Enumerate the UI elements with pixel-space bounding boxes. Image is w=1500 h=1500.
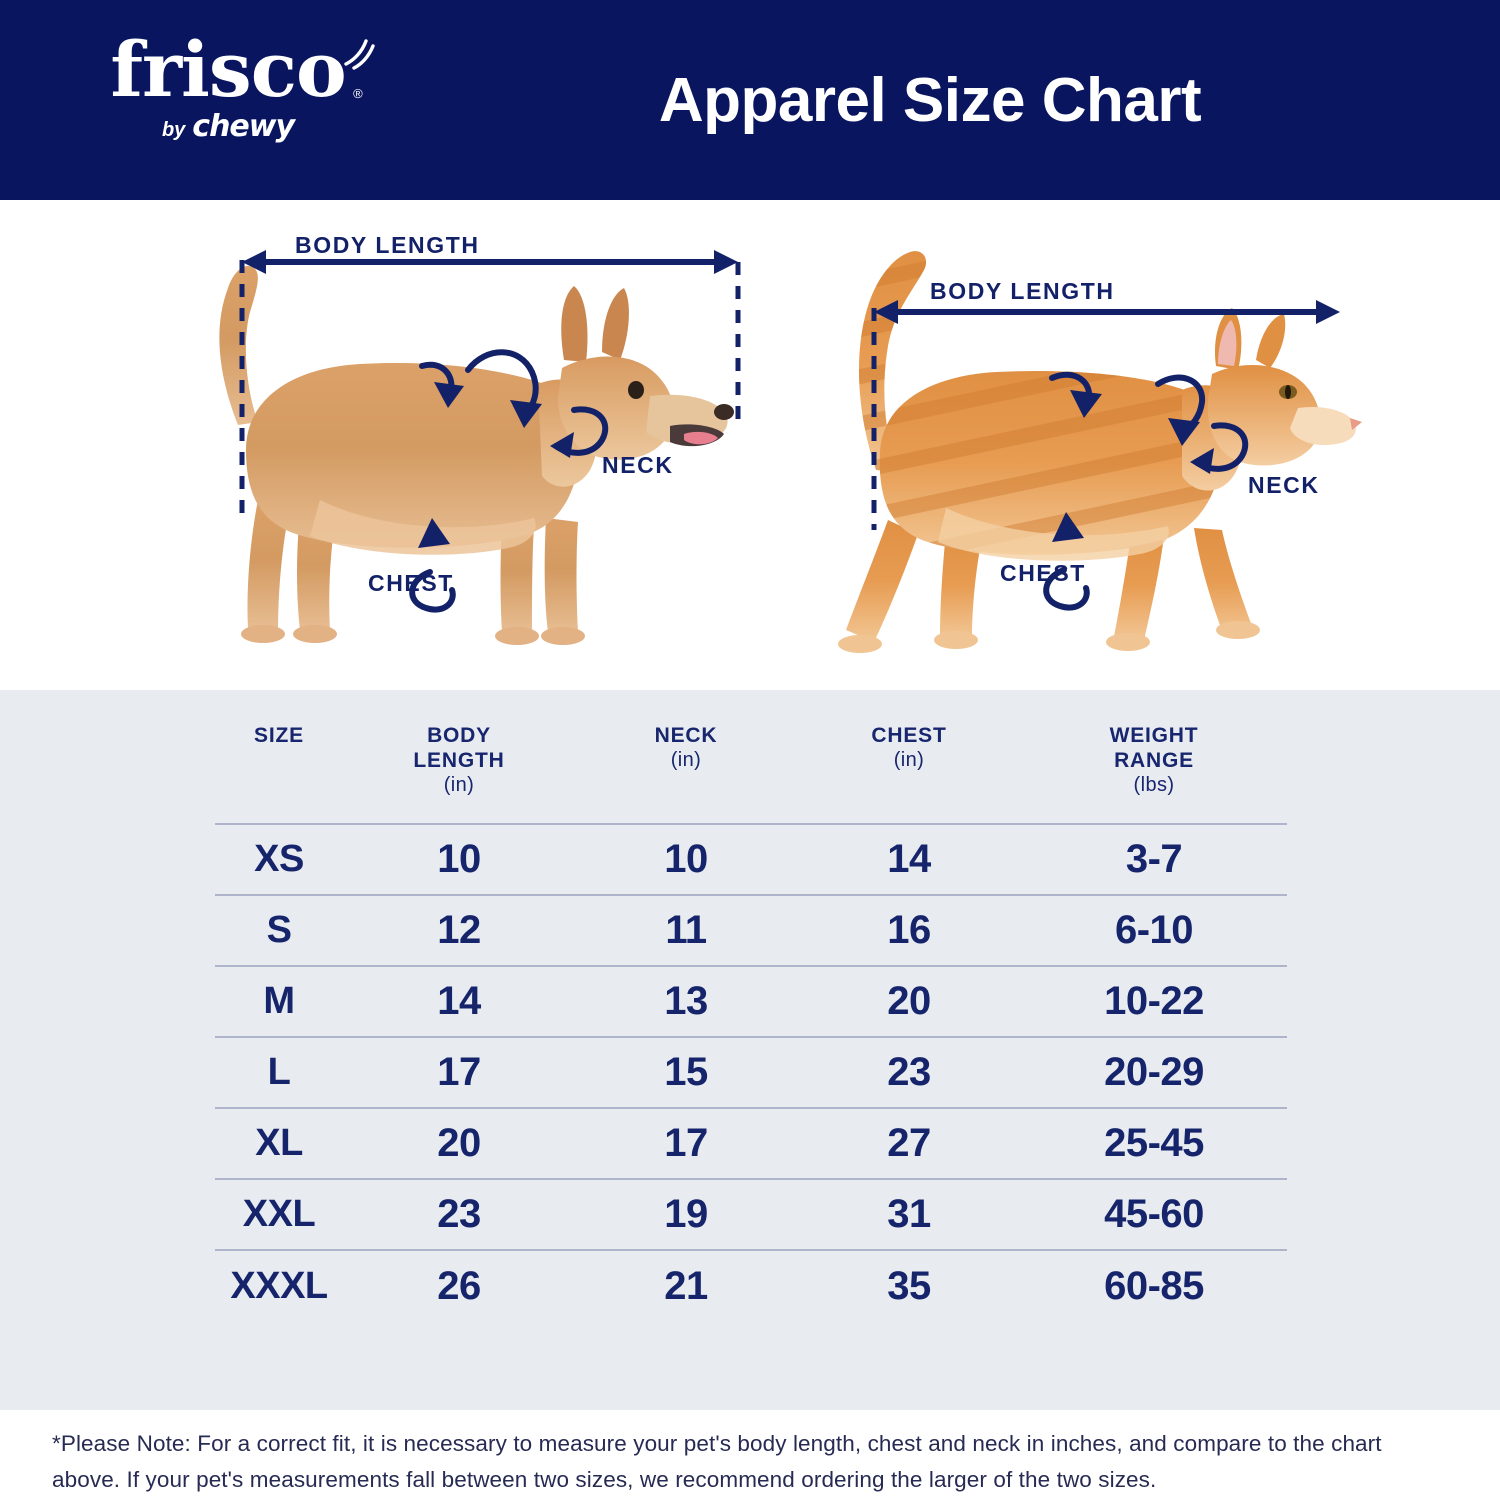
dog-body-length-label: BODY LENGTH (295, 232, 480, 259)
table-row: M 14 13 20 10-22 (215, 966, 1287, 1037)
footer-note-text: *Please Note: For a correct fit, it is n… (52, 1426, 1452, 1499)
cell-body-length: 23 (343, 1179, 575, 1250)
column-header-neck-line1: NECK (655, 724, 718, 747)
column-header-neck: NECK (in) (575, 718, 797, 824)
cell-neck: 11 (575, 895, 797, 966)
cell-weight: 6-10 (1021, 895, 1287, 966)
column-header-body-length: BODY LENGTH (in) (343, 718, 575, 824)
table-header-row: SIZE BODY LENGTH (in) NECK (in) CHEST (i… (215, 718, 1287, 824)
table-body: XS 10 10 14 3-7 S 12 11 16 6-10 M 14 13 (215, 824, 1287, 1321)
cell-size: XXL (215, 1179, 343, 1250)
cell-weight: 45-60 (1021, 1179, 1287, 1250)
cell-weight: 25-45 (1021, 1108, 1287, 1179)
column-header-body-length-line1: BODY (427, 724, 491, 747)
cell-body-length: 10 (343, 824, 575, 895)
apparel-size-chart-page: frisco ® by chewy Apparel Size Chart (0, 0, 1500, 1500)
column-header-weight-line1: WEIGHT (1110, 724, 1199, 747)
column-header-chest-line1: CHEST (871, 724, 946, 747)
cat-diagram: BODY LENGTH NECK CHEST (770, 200, 1390, 690)
cell-size: S (215, 895, 343, 966)
cell-neck: 10 (575, 824, 797, 895)
cell-size: L (215, 1037, 343, 1108)
column-header-weight-unit: (lbs) (1021, 774, 1287, 798)
cell-chest: 14 (797, 824, 1021, 895)
registered-mark-icon: ® (353, 88, 362, 100)
cell-body-length: 14 (343, 966, 575, 1037)
cell-chest: 27 (797, 1108, 1021, 1179)
size-table: SIZE BODY LENGTH (in) NECK (in) CHEST (i… (215, 718, 1287, 1321)
logo-swoosh-icon (342, 38, 376, 72)
illustration-band: BODY LENGTH NECK CHEST (0, 200, 1500, 690)
table-row: XXXL 26 21 35 60-85 (215, 1250, 1287, 1321)
page-header: frisco ® by chewy Apparel Size Chart (0, 0, 1500, 200)
cat-neck-label: NECK (1248, 472, 1320, 499)
dog-neck-label: NECK (602, 452, 674, 479)
cat-illustration (770, 200, 1390, 690)
cell-size: XL (215, 1108, 343, 1179)
column-header-body-length-unit: (in) (343, 774, 575, 798)
column-header-size: SIZE (215, 718, 343, 824)
cell-body-length: 26 (343, 1250, 575, 1321)
cell-weight: 60-85 (1021, 1250, 1287, 1321)
cell-body-length: 17 (343, 1037, 575, 1108)
cat-body-length-label: BODY LENGTH (930, 278, 1115, 305)
table-row: XL 20 17 27 25-45 (215, 1108, 1287, 1179)
size-table-section: SIZE BODY LENGTH (in) NECK (in) CHEST (i… (0, 690, 1500, 1410)
logo-sub-line: by chewy (78, 112, 378, 142)
cell-size: XXXL (215, 1250, 343, 1321)
cell-size: XS (215, 824, 343, 895)
cell-weight: 20-29 (1021, 1037, 1287, 1108)
column-header-weight-line2: RANGE (1114, 749, 1194, 772)
cell-neck: 19 (575, 1179, 797, 1250)
cat-chest-label: CHEST (1000, 560, 1086, 587)
table-row: XXL 23 19 31 45-60 (215, 1179, 1287, 1250)
cell-size: M (215, 966, 343, 1037)
table-row: XS 10 10 14 3-7 (215, 824, 1287, 895)
column-header-size-line1: SIZE (254, 724, 304, 747)
cell-neck: 13 (575, 966, 797, 1037)
logo-by-text: by (162, 120, 185, 140)
logo-chewy-text: chewy (192, 112, 294, 142)
cell-chest: 16 (797, 895, 1021, 966)
cell-neck: 17 (575, 1108, 797, 1179)
column-header-weight-range: WEIGHT RANGE (lbs) (1021, 718, 1287, 824)
cell-body-length: 20 (343, 1108, 575, 1179)
page-title: Apparel Size Chart (430, 0, 1430, 200)
table-row: L 17 15 23 20-29 (215, 1037, 1287, 1108)
cell-chest: 23 (797, 1037, 1021, 1108)
dog-illustration (150, 200, 770, 690)
column-header-chest: CHEST (in) (797, 718, 1021, 824)
cell-chest: 20 (797, 966, 1021, 1037)
column-header-chest-unit: (in) (797, 749, 1021, 773)
cell-body-length: 12 (343, 895, 575, 966)
column-header-body-length-line2: LENGTH (413, 749, 504, 772)
cell-weight: 3-7 (1021, 824, 1287, 895)
cell-neck: 21 (575, 1250, 797, 1321)
cell-neck: 15 (575, 1037, 797, 1108)
frisco-logo: frisco ® by chewy (78, 34, 378, 142)
footer-note-section: *Please Note: For a correct fit, it is n… (0, 1410, 1500, 1500)
table-row: S 12 11 16 6-10 (215, 895, 1287, 966)
cell-chest: 31 (797, 1179, 1021, 1250)
dog-diagram: BODY LENGTH NECK CHEST (150, 200, 770, 690)
dog-chest-label: CHEST (368, 570, 454, 597)
logo-word-text: frisco (110, 25, 345, 114)
cell-weight: 10-22 (1021, 966, 1287, 1037)
column-header-neck-unit: (in) (575, 749, 797, 773)
cell-chest: 35 (797, 1250, 1021, 1321)
logo-wordmark: frisco ® (110, 34, 345, 106)
